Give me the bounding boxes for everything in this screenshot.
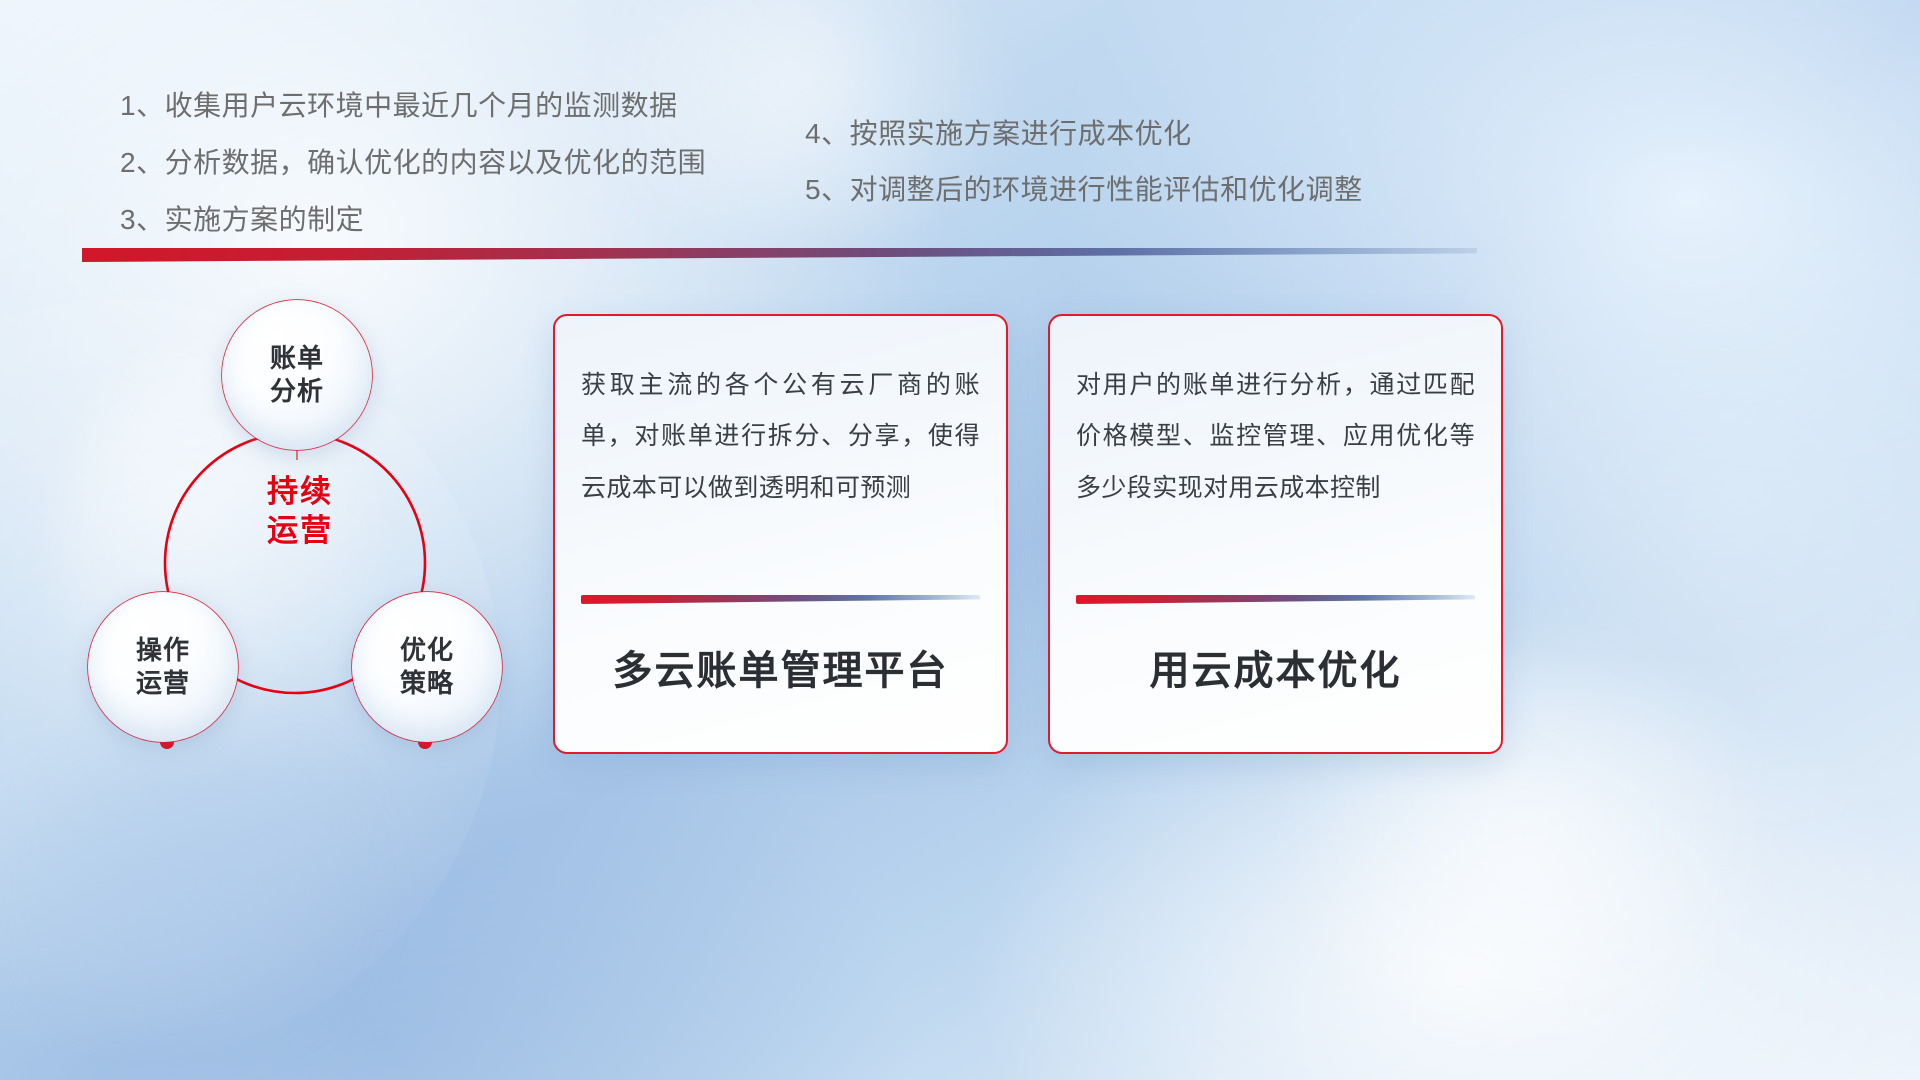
card-cloud-cost-optimization[interactable]: 对用户的账单进行分析，通过匹配价格模型、监控管理、应用优化等多少段实现对用云成本…	[1048, 314, 1503, 754]
diagram-bubble-optimization-strategy[interactable]: 优化 策略	[352, 592, 502, 742]
card-divider	[1076, 595, 1475, 604]
card-divider	[581, 595, 980, 604]
diagram-center-label: 持续 运营	[190, 472, 410, 551]
card-multicloud-billing-platform[interactable]: 获取主流的各个公有云厂商的账单，对账单进行拆分、分享，使得云成本可以做到透明和可…	[553, 314, 1008, 754]
steps-list-right: 4、按照实施方案进行成本优化 5、对调整后的环境进行性能评估和优化调整	[805, 120, 1363, 232]
steps-list-left: 1、收集用户云环境中最近几个月的监测数据 2、分析数据，确认优化的内容以及优化的…	[120, 92, 706, 263]
step-item-1: 1、收集用户云环境中最近几个月的监测数据	[120, 92, 706, 120]
bubble-label-operation: 操作 运营	[136, 634, 190, 701]
section-divider	[82, 248, 1477, 262]
bubble-label-optimization-strategy: 优化 策略	[400, 634, 454, 701]
step-item-5: 5、对调整后的环境进行性能评估和优化调整	[805, 176, 1363, 204]
continuous-operation-diagram: 账单 分析 操作 运营 优化 策略 持续 运营	[70, 280, 560, 780]
card-body-text: 对用户的账单进行分析，通过匹配价格模型、监控管理、应用优化等多少段实现对用云成本…	[1076, 360, 1475, 560]
bubble-label-billing-analysis: 账单 分析	[270, 342, 324, 409]
section-divider-bar	[82, 248, 1477, 262]
step-item-3: 3、实施方案的制定	[120, 206, 706, 234]
card-title: 用云成本优化	[1050, 638, 1501, 696]
diagram-bubble-operation[interactable]: 操作 运营	[88, 592, 238, 742]
step-item-4: 4、按照实施方案进行成本优化	[805, 120, 1363, 148]
card-title: 多云账单管理平台	[555, 638, 1006, 696]
diagram-bubble-billing-analysis[interactable]: 账单 分析	[222, 300, 372, 450]
card-body-text: 获取主流的各个公有云厂商的账单，对账单进行拆分、分享，使得云成本可以做到透明和可…	[581, 360, 980, 560]
step-item-2: 2、分析数据，确认优化的内容以及优化的范围	[120, 149, 706, 177]
